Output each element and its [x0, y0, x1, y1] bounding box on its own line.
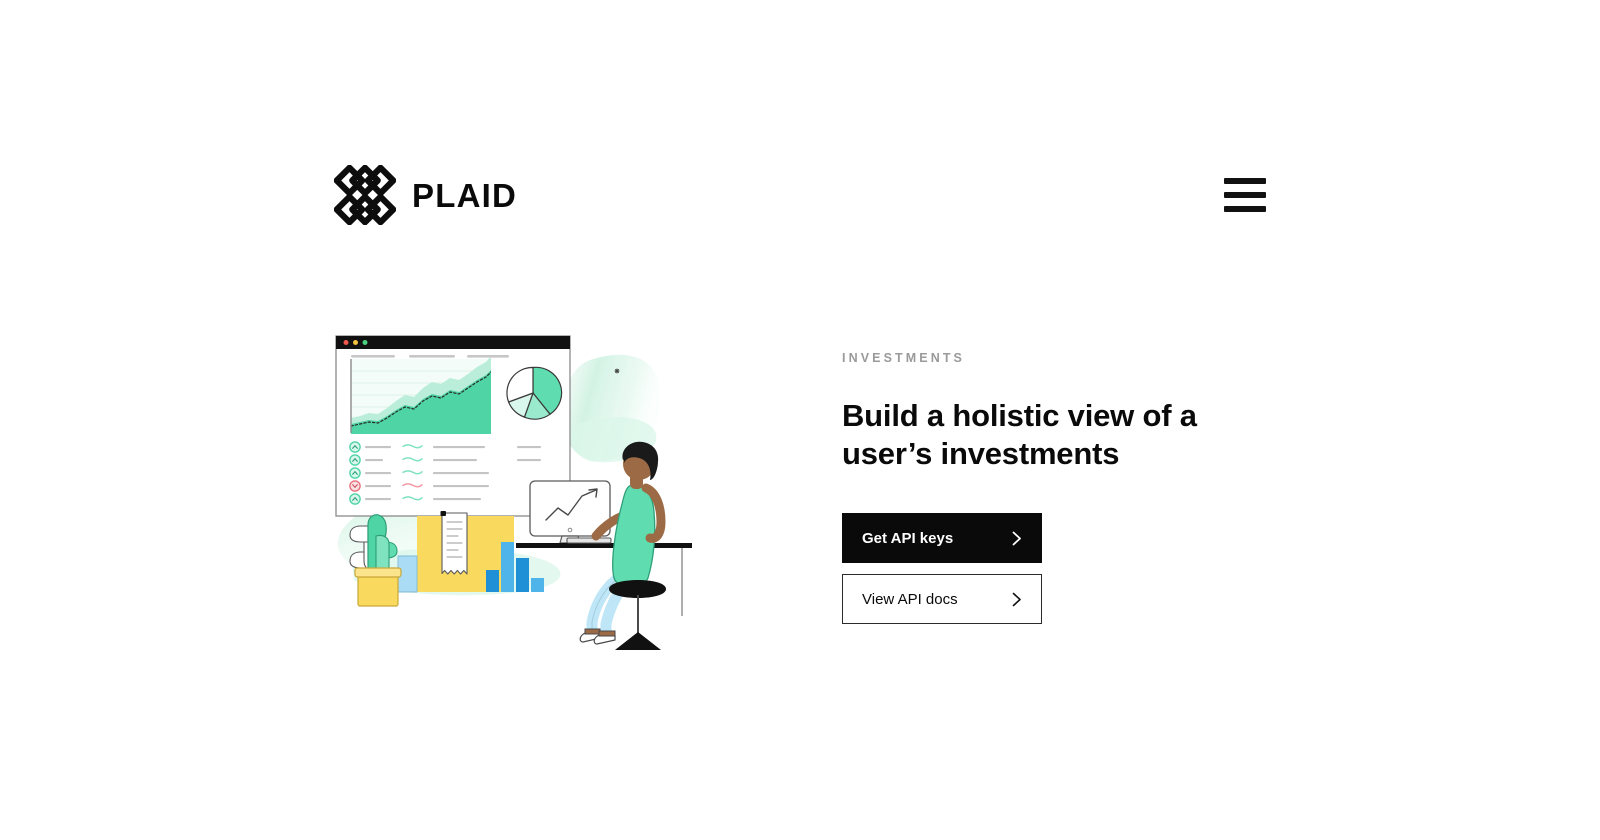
page-root: PLAID [0, 0, 1600, 840]
stool [609, 580, 666, 650]
cta-group: Get API keys View API docs [842, 513, 1266, 624]
hero-section: INVESTMENTS Build a holistic view of a u… [334, 330, 1266, 660]
hamburger-menu-icon[interactable] [1224, 178, 1266, 212]
menu-bar-bottom [1224, 206, 1266, 212]
desk-surface [516, 543, 692, 548]
view-api-docs-label: View API docs [862, 592, 958, 607]
accent-speck [615, 369, 619, 373]
eyebrow-label: INVESTMENTS [842, 352, 1266, 365]
view-api-docs-button[interactable]: View API docs [842, 574, 1042, 624]
get-api-keys-button[interactable]: Get API keys [842, 513, 1042, 563]
chevron-right-icon [1012, 531, 1022, 546]
site-header: PLAID [0, 160, 1600, 230]
shoes [580, 629, 615, 644]
get-api-keys-label: Get API keys [862, 531, 953, 546]
brand-wordmark: PLAID [412, 179, 517, 212]
receipt-icon [441, 511, 468, 574]
brand-logo-link[interactable]: PLAID [334, 165, 517, 225]
window-nav-placeholders [351, 355, 509, 358]
hero-copy: INVESTMENTS Build a holistic view of a u… [754, 330, 1266, 624]
investments-dashboard-illustration [334, 330, 754, 660]
plaid-lattice-logo-icon [334, 165, 396, 225]
yellow-block-with-receipt [417, 511, 514, 592]
area-chart [351, 356, 491, 434]
chevron-right-icon [1012, 592, 1022, 607]
pie-chart [507, 367, 562, 419]
menu-bar-top [1224, 178, 1266, 184]
menu-bar-middle [1224, 192, 1266, 198]
keyboard [567, 538, 611, 543]
page-title: Build a holistic view of a user’s invest… [842, 397, 1242, 475]
